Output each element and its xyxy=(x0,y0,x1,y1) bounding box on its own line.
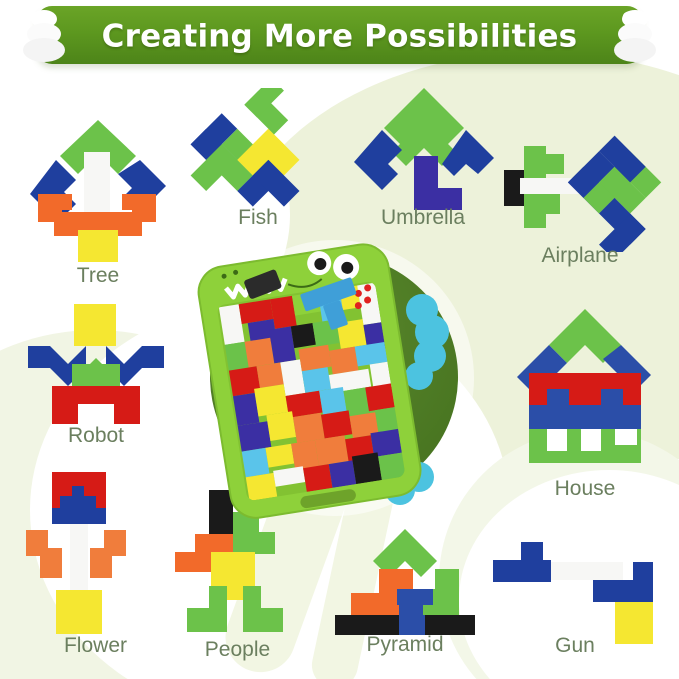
shape-label-tree: Tree xyxy=(18,264,178,288)
pyramid-shape xyxy=(325,525,485,645)
shape-card-airplane: Airplane xyxy=(490,132,670,282)
shape-label-umbrella: Umbrella xyxy=(338,206,508,230)
shape-label-airplane: Airplane xyxy=(490,244,670,268)
shape-label-flower: Flower xyxy=(18,634,173,658)
shape-label-gun: Gun xyxy=(485,634,665,658)
tree-shape xyxy=(18,112,178,262)
header-banner: Creating More Possibilities xyxy=(14,6,665,68)
shape-card-gun: Gun xyxy=(485,528,665,668)
gun-shape xyxy=(485,528,665,648)
dinosaur-puzzle-tray[interactable] xyxy=(186,232,486,522)
shape-card-tree: Tree xyxy=(18,112,178,292)
shape-label-robot: Robot xyxy=(16,424,176,448)
shape-card-flower: Flower xyxy=(18,468,173,663)
shape-card-fish: Fish xyxy=(178,88,338,238)
flower-shape xyxy=(18,468,173,643)
product-photo xyxy=(186,232,486,522)
fish-shape xyxy=(178,88,338,218)
shape-card-pyramid: Pyramid xyxy=(325,525,485,665)
umbrella-shape xyxy=(338,80,508,215)
shape-label-people: People xyxy=(165,638,310,662)
shape-card-house: House xyxy=(505,305,665,505)
airplane-shape xyxy=(490,132,670,252)
shape-card-robot: Robot xyxy=(16,302,176,462)
shape-label-fish: Fish xyxy=(178,206,338,230)
house-shape xyxy=(505,305,665,480)
shape-label-house: House xyxy=(505,477,665,501)
shape-card-umbrella: Umbrella xyxy=(338,80,508,240)
robot-shape xyxy=(16,302,176,427)
infographic-page: Creating More Possibilities Tree xyxy=(0,0,679,679)
page-title: Creating More Possibilities xyxy=(14,18,665,54)
shape-label-pyramid: Pyramid xyxy=(325,633,485,657)
